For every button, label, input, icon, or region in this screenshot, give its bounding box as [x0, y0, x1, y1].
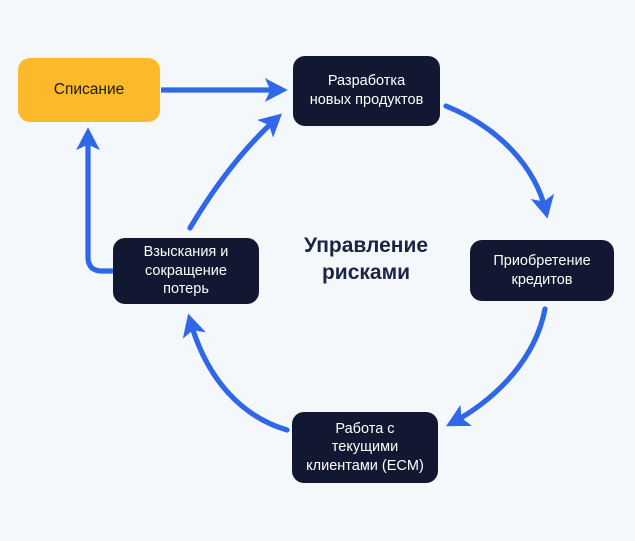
connector-collections-to-write-off [88, 134, 112, 271]
node-loan-acquisition[interactable]: Приобретение кредитов [470, 240, 614, 301]
node-current-clients-label: Работа с текущими клиентами (ECM) [302, 420, 428, 476]
node-write-off-label: Списание [54, 80, 124, 100]
risk-management-cycle-diagram: Списание Разработка новых продуктов Прио… [0, 0, 635, 541]
node-new-products-label: Разработка новых продуктов [310, 72, 424, 109]
connector-current-clients-to-collections [190, 320, 287, 430]
node-new-products[interactable]: Разработка новых продуктов [293, 56, 440, 126]
diagram-center-title: Управление рисками [268, 232, 464, 287]
connector-loan-acquisition-to-current-clients [452, 309, 545, 423]
connector-collections-to-new-products [190, 118, 277, 228]
node-loan-acquisition-label: Приобретение кредитов [493, 252, 590, 289]
node-write-off[interactable]: Списание [18, 58, 160, 122]
node-collections[interactable]: Взыскания и сокращение потерь [113, 238, 259, 304]
connector-new-products-to-loan-acquisition [446, 106, 546, 212]
node-current-clients[interactable]: Работа с текущими клиентами (ECM) [292, 412, 438, 483]
node-collections-label: Взыскания и сокращение потерь [144, 243, 229, 299]
